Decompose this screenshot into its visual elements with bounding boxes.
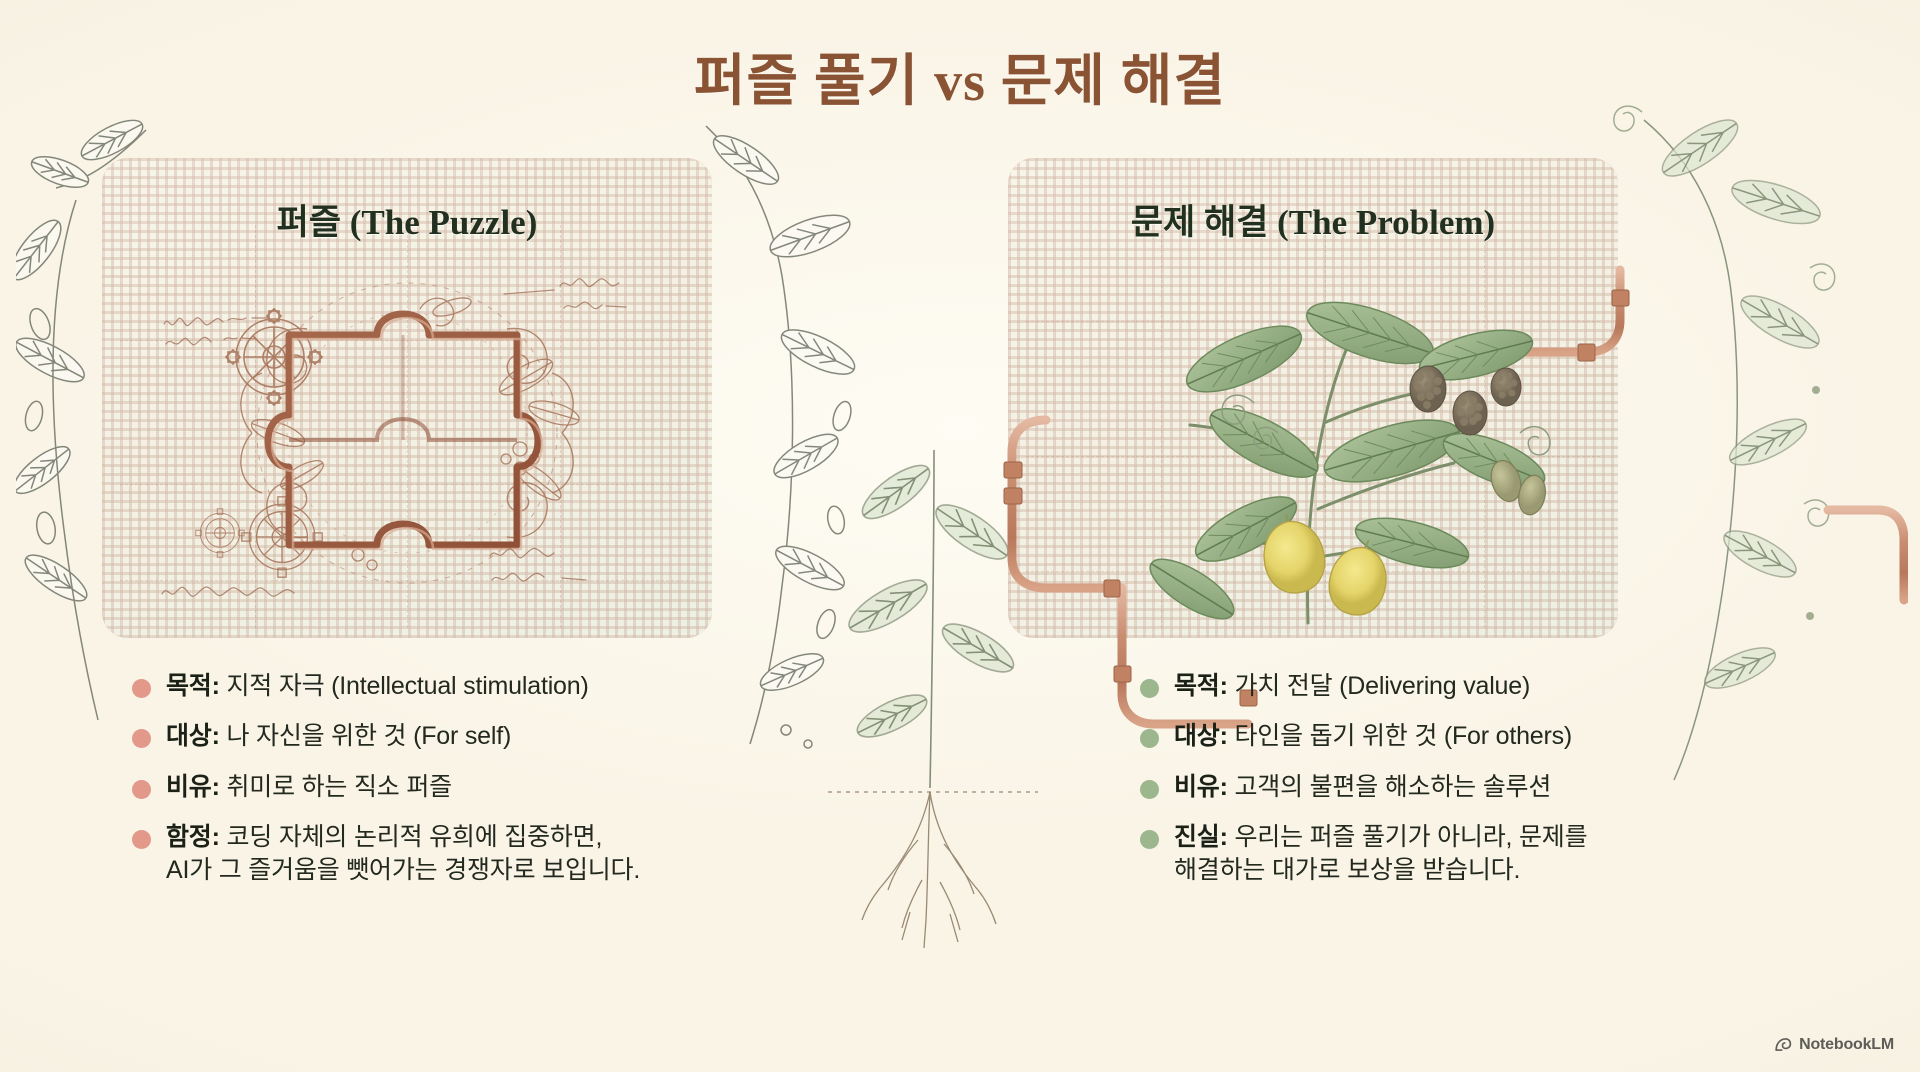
bullet-body: 나 자신을 위한 것 (For self) — [220, 722, 511, 750]
handwriting-note-bottom-right — [486, 536, 666, 596]
bullet-label: 진실: — [1174, 823, 1228, 851]
bullet-dot-icon — [132, 780, 151, 799]
handwriting-note-bottom-left — [158, 574, 358, 608]
bullet-body: 타인을 돕기 위한 것 (For others) — [1228, 722, 1572, 750]
bullet-label: 비유: — [1174, 773, 1228, 801]
card-puzzle: 퍼즐 (The Puzzle) — [102, 158, 712, 638]
bullet-label: 대상: — [166, 722, 220, 750]
plant-illustration — [1008, 236, 1618, 638]
notebooklm-watermark: NotebookLM — [1773, 1035, 1894, 1054]
column-problem: 문제 해결 (The Problem) — [1008, 130, 1848, 1040]
list-item: 비유: 취미로 하는 직소 퍼즐 — [132, 771, 832, 804]
bullet-body-second-line: AI가 그 즐거움을 뺏어가는 경쟁자로 보입니다. — [166, 854, 640, 887]
list-item: 함정: 코딩 자체의 논리적 유희에 집중하면, AI가 그 즐거움을 뺏어가는… — [132, 821, 832, 888]
card-puzzle-title: 퍼즐 (The Puzzle) — [102, 194, 712, 245]
list-item: 비유: 고객의 불편을 해소하는 솔루션 — [1140, 771, 1840, 804]
handwriting-note-top-left — [160, 308, 280, 354]
bullet-body: 지적 자극 (Intellectual stimulation) — [220, 672, 589, 700]
card-problem-title: 문제 해결 (The Problem) — [1008, 194, 1618, 245]
bullet-label: 함정: — [166, 823, 220, 851]
bullet-dot-icon — [132, 679, 151, 698]
bullet-body-second-line: 해결하는 대가로 보상을 받습니다. — [1174, 854, 1587, 887]
bullet-label: 대상: — [1174, 722, 1228, 750]
handwriting-note-top-right — [502, 268, 662, 320]
puzzle-bullet-list: 목적: 지적 자극 (Intellectual stimulation) 대상:… — [132, 670, 832, 904]
bullet-dot-icon — [1140, 830, 1159, 849]
bullet-label: 목적: — [166, 672, 220, 700]
bullet-dot-icon — [132, 830, 151, 849]
bullet-body: 취미로 하는 직소 퍼즐 — [220, 773, 452, 801]
card-puzzle-surface: 퍼즐 (The Puzzle) — [102, 158, 712, 638]
list-item: 진실: 우리는 퍼즐 풀기가 아니라, 문제를 해결하는 대가로 보상을 받습니… — [1140, 821, 1840, 888]
problem-bullet-list: 목적: 가치 전달 (Delivering value) 대상: 타인을 돕기 … — [1140, 670, 1840, 904]
bullet-body: 우리는 퍼즐 풀기가 아니라, 문제를 — [1228, 823, 1588, 851]
bullet-label: 목적: — [1174, 672, 1228, 700]
bullet-body: 고객의 불편을 해소하는 솔루션 — [1228, 773, 1551, 801]
bullet-dot-icon — [1140, 679, 1159, 698]
page-title: 퍼즐 풀기 vs 문제 해결 — [0, 36, 1920, 117]
notebooklm-spiral-icon — [1773, 1035, 1792, 1054]
bullet-body: 코딩 자체의 논리적 유희에 집중하면, — [220, 823, 602, 851]
card-problem: 문제 해결 (The Problem) — [1008, 158, 1618, 638]
comparison-columns: 퍼즐 (The Puzzle) — [0, 0, 1920, 1072]
notebooklm-label: NotebookLM — [1799, 1036, 1894, 1054]
card-problem-surface: 문제 해결 (The Problem) — [1008, 158, 1618, 638]
column-puzzle: 퍼즐 (The Puzzle) — [72, 130, 912, 1040]
bullet-body: 가치 전달 (Delivering value) — [1228, 672, 1530, 700]
bullet-label: 비유: — [166, 773, 220, 801]
list-item: 대상: 나 자신을 위한 것 (For self) — [132, 720, 832, 753]
bullet-dot-icon — [1140, 729, 1159, 748]
bullet-dot-icon — [132, 729, 151, 748]
list-item: 목적: 지적 자극 (Intellectual stimulation) — [132, 670, 832, 703]
bullet-dot-icon — [1140, 780, 1159, 799]
list-item: 대상: 타인을 돕기 위한 것 (For others) — [1140, 720, 1840, 753]
list-item: 목적: 가치 전달 (Delivering value) — [1140, 670, 1840, 703]
